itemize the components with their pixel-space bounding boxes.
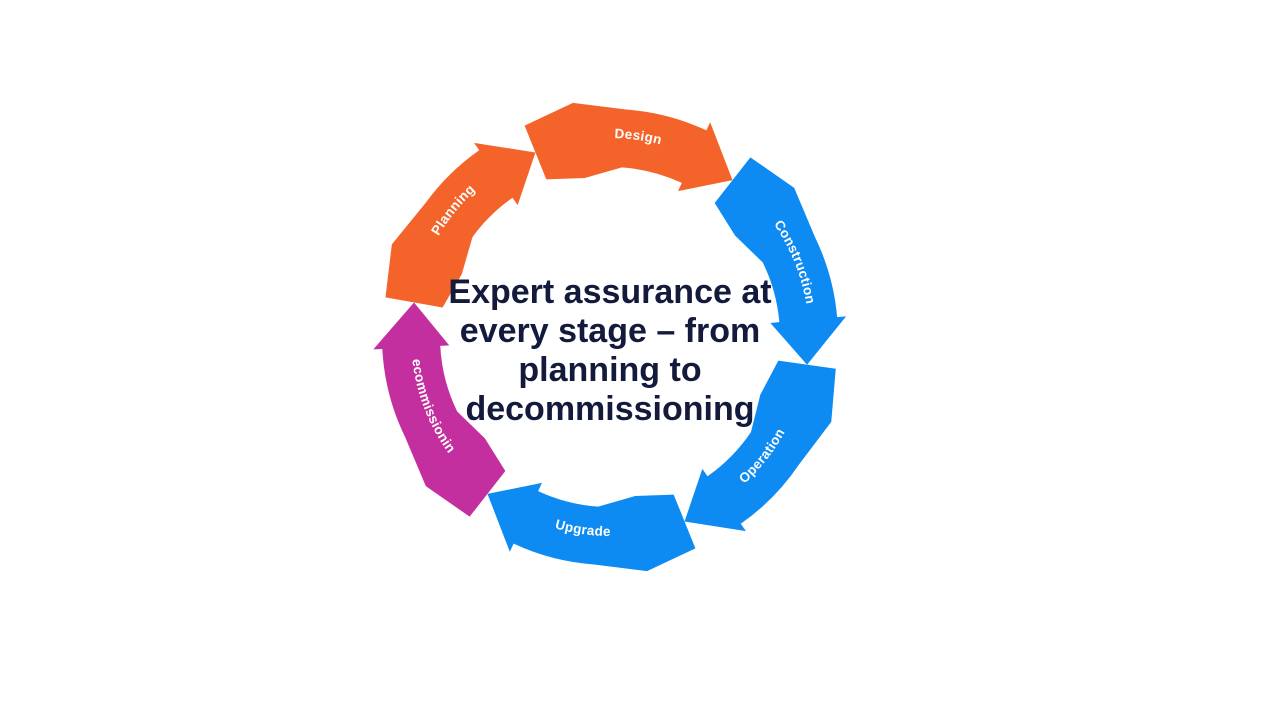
cycle-segment-design[interactable]: [525, 103, 733, 191]
center-text-line-4: decommissioning: [465, 390, 754, 428]
center-text-line-1: Expert assurance at: [448, 273, 771, 311]
center-text-block: Expert assurance at every stage – from p…: [448, 273, 771, 428]
center-text-line-3: planning to: [518, 351, 701, 389]
cycle-segment-operation[interactable]: [685, 361, 836, 531]
center-text-line-2: every stage – from: [460, 312, 761, 350]
diagram-canvas: PlanningDesignConstructionOperationUpgra…: [0, 0, 1280, 720]
cycle-diagram: PlanningDesignConstructionOperationUpgra…: [0, 0, 1280, 720]
